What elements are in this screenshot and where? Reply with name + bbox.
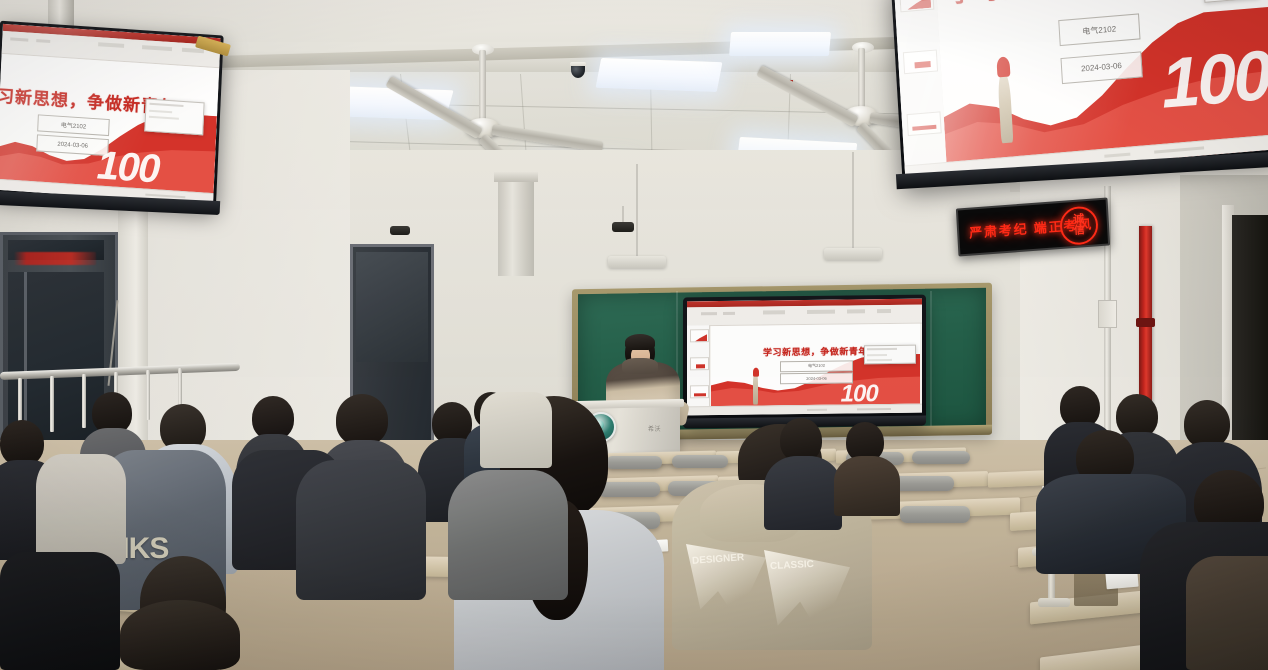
dialog-row-line — [867, 359, 892, 361]
ppt-floating-dialog[interactable] — [864, 344, 916, 364]
window-pane — [8, 272, 104, 442]
student-head — [1184, 400, 1230, 448]
status-view-buttons[interactable] — [1104, 153, 1130, 158]
railing-post — [50, 376, 54, 432]
desk-foot — [1038, 598, 1070, 607]
front-smart-board[interactable]: 学习新思想，争做新青年 电气2102 2024-03-06 100 — [683, 295, 926, 425]
ppt-slide-thumbnail[interactable] — [899, 0, 934, 12]
status-zoom-control[interactable] — [857, 408, 891, 410]
powerpoint-window[interactable]: 学习新思想，争做新青年 电气2102 2024-03-06 100 — [687, 299, 922, 416]
dialog-title-line — [867, 348, 897, 350]
student-seat — [606, 456, 662, 469]
ppt-ribbon-control[interactable] — [877, 309, 891, 313]
presenter-hair — [625, 334, 655, 350]
powerpoint-window[interactable]: 学习新思想，争做新青年 电气2102 2024-03-06 100 — [0, 24, 221, 204]
door-window-pane — [356, 252, 428, 362]
student-torso — [36, 454, 126, 564]
student-coat — [1186, 556, 1268, 670]
ceiling-speaker — [608, 256, 666, 268]
student-head — [120, 600, 240, 670]
status-view-buttons[interactable] — [807, 409, 827, 411]
powerpoint-window[interactable]: 学习新思想，争做新青年 电气2102 2024-03-06 100 — [894, 0, 1268, 180]
exam-integrity-logo-icon: 诚信 — [1059, 205, 1099, 246]
left-monitor-screen[interactable]: 学习新思想，争做新青年 电气2102 2024-03-06 100 — [0, 24, 221, 204]
ppt-ribbon-control[interactable] — [847, 309, 865, 313]
ppt-slide-thumbnail[interactable] — [903, 49, 938, 74]
slide-class-field[interactable]: 电气2102 — [780, 360, 853, 372]
student-torso — [296, 460, 426, 600]
ppt-ribbon-control[interactable] — [701, 312, 717, 315]
ppt-floating-dialog[interactable] — [145, 99, 205, 135]
projector — [612, 222, 634, 232]
dialog-row-line — [867, 354, 887, 356]
led-logo-text: 诚信 — [1070, 214, 1088, 237]
slide-class-field[interactable]: 电气2102 — [37, 114, 109, 136]
pendant-wire — [636, 164, 638, 256]
ppt-ribbon-control[interactable] — [763, 310, 785, 314]
ceiling-fan-rod — [479, 50, 486, 122]
ceiling-speaker — [824, 248, 882, 260]
ppt-slide-thumbnail[interactable] — [690, 329, 709, 342]
classroom-photo: 学习新思想，争做新青年 电气2102 2024-03-06 100 — [0, 0, 1268, 670]
ppt-status-bar[interactable] — [687, 404, 922, 416]
student-seat — [598, 482, 660, 497]
left-wall-monitor[interactable]: 学习新思想，争做新青年 电气2102 2024-03-06 100 — [0, 21, 224, 208]
chalkboard-panel-seam — [930, 291, 932, 431]
slide-100-emblem: 100 — [1159, 35, 1268, 124]
dialog-row-line — [149, 116, 179, 120]
ceiling-light-panel — [595, 58, 722, 92]
red-banner-behind-window — [14, 252, 96, 265]
dialog-title-line — [150, 103, 184, 107]
ppt-slide-thumbnail[interactable] — [690, 357, 709, 370]
smart-board-screen[interactable]: 学习新思想，争做新青年 电气2102 2024-03-06 100 — [687, 299, 922, 416]
dialog-row-line — [149, 110, 172, 113]
pendant-wire — [852, 152, 854, 248]
ppt-slide-stage[interactable]: 学习新思想，争做新青年 电气2102 2024-03-06 100 — [0, 54, 219, 194]
presenter-collar — [622, 358, 658, 374]
ppt-ribbon-control[interactable] — [723, 312, 735, 315]
ceiling-light-panel — [729, 32, 831, 56]
wall-junction-box — [1098, 300, 1117, 328]
student-torso — [448, 470, 568, 600]
right-monitor-screen[interactable]: 学习新思想，争做新青年 电气2102 2024-03-06 100 — [894, 0, 1268, 180]
ceiling-fan-rod — [858, 48, 865, 110]
student-head — [336, 394, 388, 446]
student-torso — [480, 392, 552, 468]
student-seat — [672, 455, 728, 468]
student-seat — [900, 506, 970, 523]
ppt-slide-thumbnail[interactable] — [690, 385, 709, 398]
projector — [390, 226, 410, 235]
slide-100-emblem: 100 — [841, 380, 878, 406]
standpipe-flange — [1136, 318, 1155, 327]
lectern-brand-label: 希沃 — [648, 424, 670, 433]
student-torso — [764, 456, 842, 530]
student-seat — [912, 451, 970, 464]
window-mullion — [24, 272, 27, 440]
status-zoom-control[interactable] — [1154, 146, 1204, 153]
student-torso — [834, 456, 900, 516]
slide-torch-flame — [997, 57, 1011, 78]
ppt-slide-stage[interactable]: 学习新思想，争做新青年 电气2102 2024-03-06 100 — [711, 324, 920, 407]
railing-post — [146, 370, 150, 420]
slide-class-field[interactable]: 电气2102 — [1058, 14, 1141, 47]
ppt-slide-thumbnail[interactable] — [907, 111, 942, 136]
ppt-ribbon-control[interactable] — [807, 310, 835, 314]
student-coat — [0, 552, 120, 670]
railing-post — [82, 374, 86, 428]
wall-duct — [498, 176, 534, 276]
slide-torch-flame — [753, 367, 759, 376]
ppt-floating-dialog[interactable] — [1201, 0, 1259, 2]
wall-duct-cap — [494, 172, 538, 182]
ppt-slide-thumbnail-panel[interactable] — [687, 325, 710, 407]
